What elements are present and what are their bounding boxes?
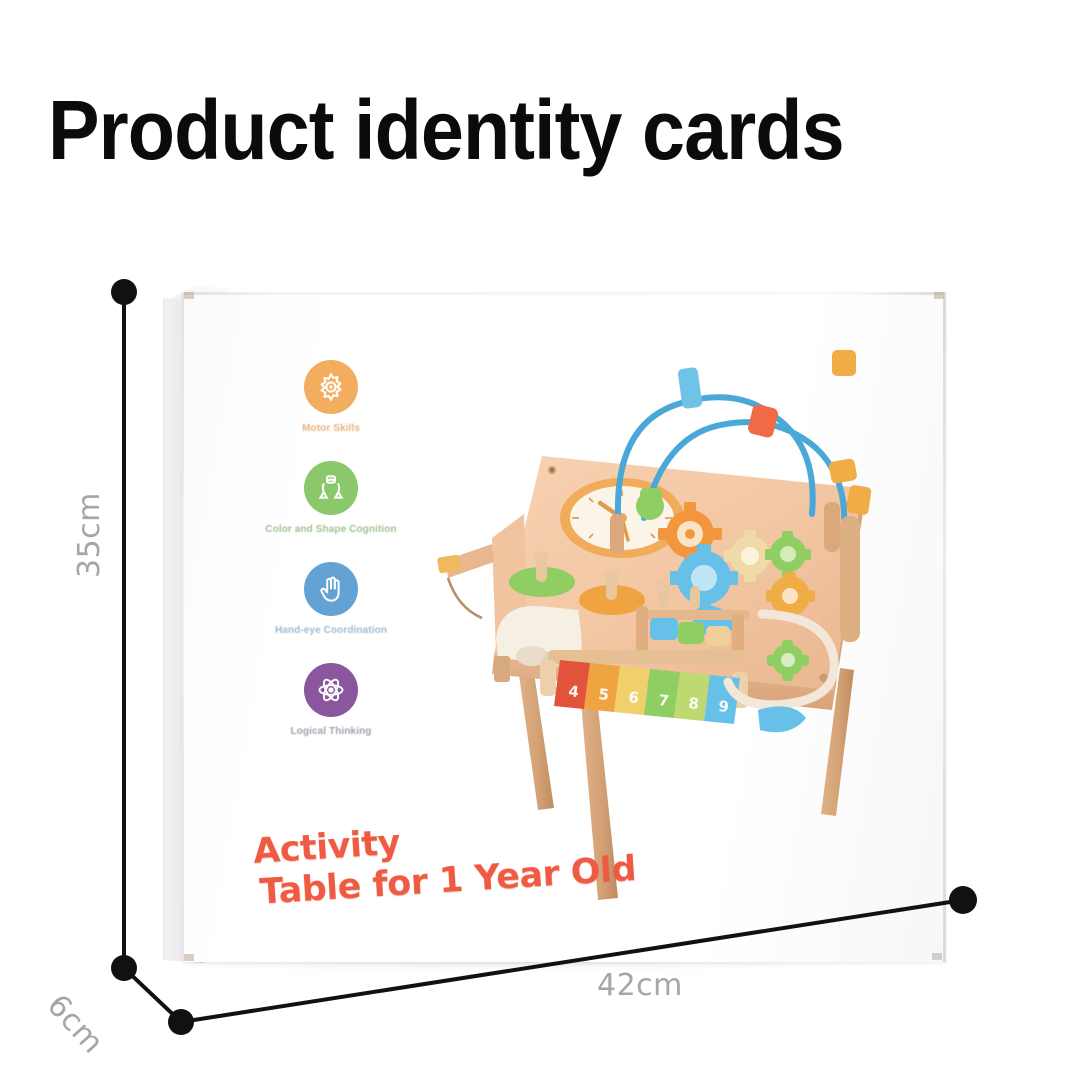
feature-label: Logical Thinking	[256, 726, 406, 738]
package-left-fold	[182, 292, 184, 962]
atom-icon	[304, 663, 358, 717]
feature-motor-skills: Motor Skills	[256, 360, 406, 435]
width-dimension-label: 42cm	[597, 968, 683, 1003]
svg-text:8: 8	[688, 694, 700, 713]
shapes-cognition-icon	[304, 461, 358, 515]
svg-text:5: 5	[598, 685, 610, 704]
package-front-face: Motor Skills Color and Sh	[182, 292, 946, 962]
feature-label: Color and Shape Cognition	[256, 524, 406, 536]
hand-icon	[304, 562, 358, 616]
feature-icon-list: Motor Skills Color and Sh	[256, 360, 406, 764]
gear-icon	[304, 360, 358, 414]
feature-hand-eye-coordination: Hand-eye Coordination	[256, 562, 406, 637]
svg-text:9: 9	[718, 697, 730, 716]
feature-color-shape-cognition: Color and Shape Cognition	[256, 461, 406, 536]
height-dimension-label: 35cm	[72, 492, 107, 578]
feature-logical-thinking: Logical Thinking	[256, 663, 406, 738]
screenshot-stage: Product identity cards	[0, 0, 1080, 1090]
product-package: Motor Skills Color and Sh	[0, 0, 1080, 1090]
svg-text:7: 7	[658, 691, 670, 710]
feature-label: Hand-eye Coordination	[256, 625, 406, 637]
package-right-fold	[943, 292, 946, 962]
carton-corner-nick-top-left	[184, 292, 194, 299]
svg-text:4: 4	[568, 682, 580, 701]
svg-text:6: 6	[628, 688, 640, 707]
carton-corner-nick-bottom-right	[932, 953, 942, 960]
feature-label: Motor Skills	[256, 423, 406, 435]
carton-corner-nick-top-right	[934, 292, 944, 299]
carton-corner-nick-bottom-left	[184, 954, 194, 961]
